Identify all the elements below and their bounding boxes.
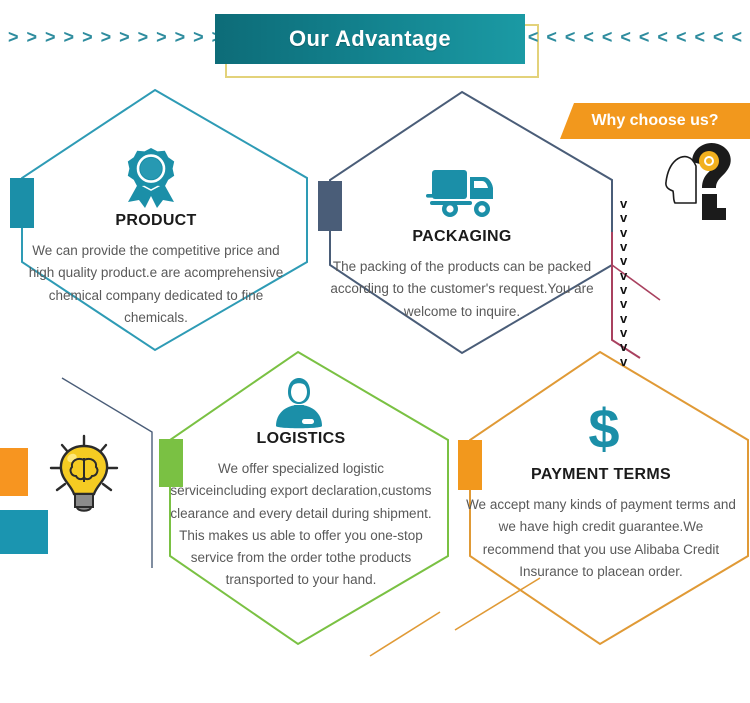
lightbulb-brain-icon (44, 432, 124, 516)
chevron-left-icon: < (528, 28, 539, 46)
card-body-packaging: The packing of the products can be packe… (328, 256, 596, 323)
tab-accent-logistics (159, 439, 183, 487)
card-body-logistics: We offer specialized logistic serviceinc… (170, 458, 432, 592)
v-chevron-column: v v v v v v v v v v v v (620, 198, 627, 368)
chevron-right-icon: > (8, 28, 19, 46)
connector-logistics-lower (370, 612, 440, 656)
chevron-right-icon: > (138, 28, 149, 46)
dollar-sign-icon: $ (576, 398, 632, 460)
why-choose-us-label: Why choose us? (591, 112, 718, 130)
why-choose-us-banner: Why choose us? (560, 103, 750, 139)
chevron-left-icon: < (583, 28, 594, 46)
chevron-down-icon: v (620, 327, 627, 339)
question-head-icon (662, 136, 744, 220)
header-banner: Our Advantage (215, 14, 525, 64)
card-body-payment: We accept many kinds of payment terms an… (462, 494, 740, 583)
chevron-right-icon: > (119, 28, 130, 46)
chevron-left-icon: < (676, 28, 687, 46)
chevron-down-icon: v (620, 241, 627, 253)
chevron-down-icon: v (620, 298, 627, 310)
card-title-packaging: PACKAGING (328, 228, 596, 246)
chevron-right-icon: > (175, 28, 186, 46)
chevron-down-icon: v (620, 255, 627, 267)
delivery-truck-icon (426, 164, 498, 220)
award-badge-icon (118, 146, 184, 208)
decor-square-orange (0, 448, 28, 496)
chevron-down-icon: v (620, 284, 627, 296)
chevron-right-icon: > (101, 28, 112, 46)
person-avatar-icon (272, 376, 326, 430)
chevron-down-icon: v (620, 341, 627, 353)
card-title-logistics: LOGISTICS (170, 430, 432, 448)
chevron-right-icon: > (156, 28, 167, 46)
chevron-left-icon: < (731, 28, 742, 46)
chevron-right-icon: > (27, 28, 38, 46)
decor-square-teal (0, 510, 48, 554)
chevron-left-icon: < (565, 28, 576, 46)
page-title: Our Advantage (289, 26, 451, 52)
card-packaging: PACKAGING The packing of the products ca… (328, 228, 596, 323)
infographic-canvas: > > > > > > > > > > > > > > Our Advantag… (0, 0, 750, 703)
chevron-left-icon: < (546, 28, 557, 46)
chevron-down-icon: v (620, 270, 627, 282)
chevron-down-icon: v (620, 198, 627, 210)
chevron-right-icon: > (45, 28, 56, 46)
chevron-right-icon: > (64, 28, 75, 46)
card-payment: PAYMENT TERMS We accept many kinds of pa… (462, 466, 740, 583)
tab-accent-product (10, 178, 34, 228)
chevron-left-icon: < (620, 28, 631, 46)
connector-payment-lower (455, 578, 540, 630)
card-title-payment: PAYMENT TERMS (462, 466, 740, 484)
card-body-product: We can provide the competitive price and… (20, 240, 292, 329)
chevron-down-icon: v (620, 356, 627, 368)
tab-accent-packaging (318, 181, 342, 231)
chevron-left-icon: < (639, 28, 650, 46)
card-product: PRODUCT We can provide the competitive p… (20, 212, 292, 329)
tab-accent-payment (458, 440, 482, 490)
chevron-down-icon: v (620, 313, 627, 325)
card-title-product: PRODUCT (20, 212, 292, 230)
chevron-left-icon: < (694, 28, 705, 46)
chevron-left-icon: < (602, 28, 613, 46)
svg-text:$: $ (588, 398, 619, 460)
header-chevrons-right: < < < < < < < < < < < < < < (491, 28, 742, 46)
chevron-left-icon: < (713, 28, 724, 46)
chevron-right-icon: > (193, 28, 204, 46)
chevron-down-icon: v (620, 212, 627, 224)
chevron-down-icon: v (620, 227, 627, 239)
card-logistics: LOGISTICS We offer specialized logistic … (170, 430, 432, 592)
chevron-left-icon: < (657, 28, 668, 46)
chevron-right-icon: > (82, 28, 93, 46)
